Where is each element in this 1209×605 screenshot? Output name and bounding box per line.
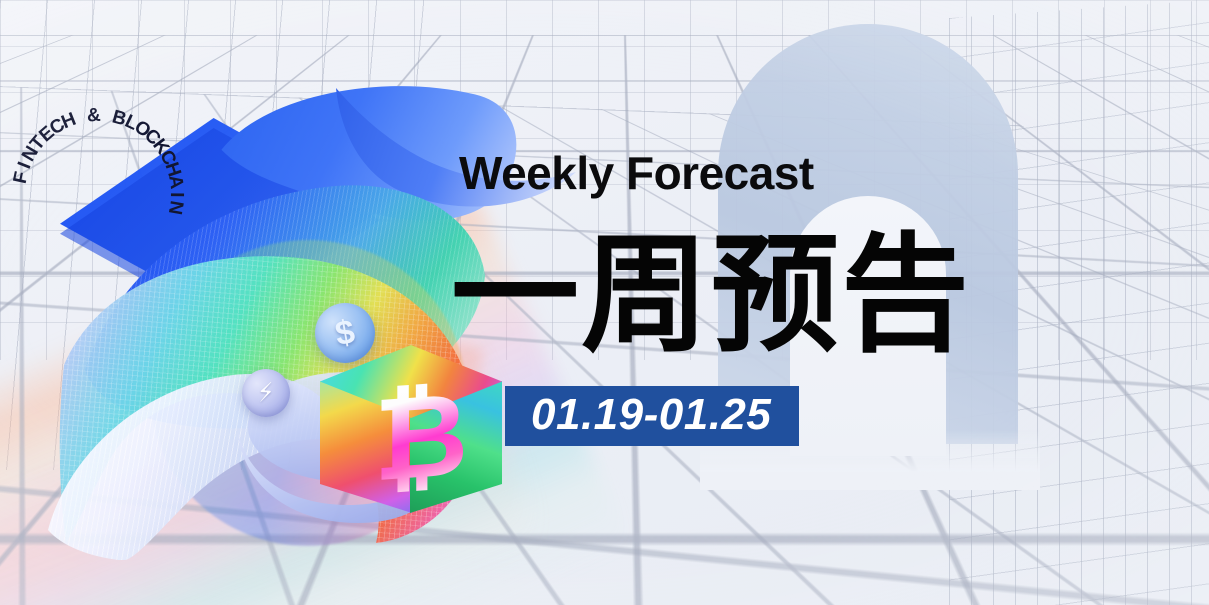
headline-chinese: 一周预告 [451,232,1079,360]
headline-english: Weekly Forecast [459,150,1079,196]
dollar-icon: $ [332,312,357,354]
circular-tagline-letter: F [10,170,34,186]
circular-tagline-letter: I [165,192,187,198]
circular-tagline-letter: & [86,105,101,128]
weekly-forecast-banner: $ ⚡ ₿ FINTECH & BLOCKCHAIN Weekly Foreca… [0,0,1209,605]
circular-tagline: FINTECH & BLOCKCHAIN [8,104,188,284]
lightning-bolt-icon: ⚡ [256,379,277,406]
date-badge: 01.19-01.25 [505,386,799,446]
headline-block: Weekly Forecast 一周预告 01.19-01.25 [459,150,1079,446]
circular-tagline-letter: N [163,199,187,216]
circular-tagline-letter: A [163,174,187,191]
